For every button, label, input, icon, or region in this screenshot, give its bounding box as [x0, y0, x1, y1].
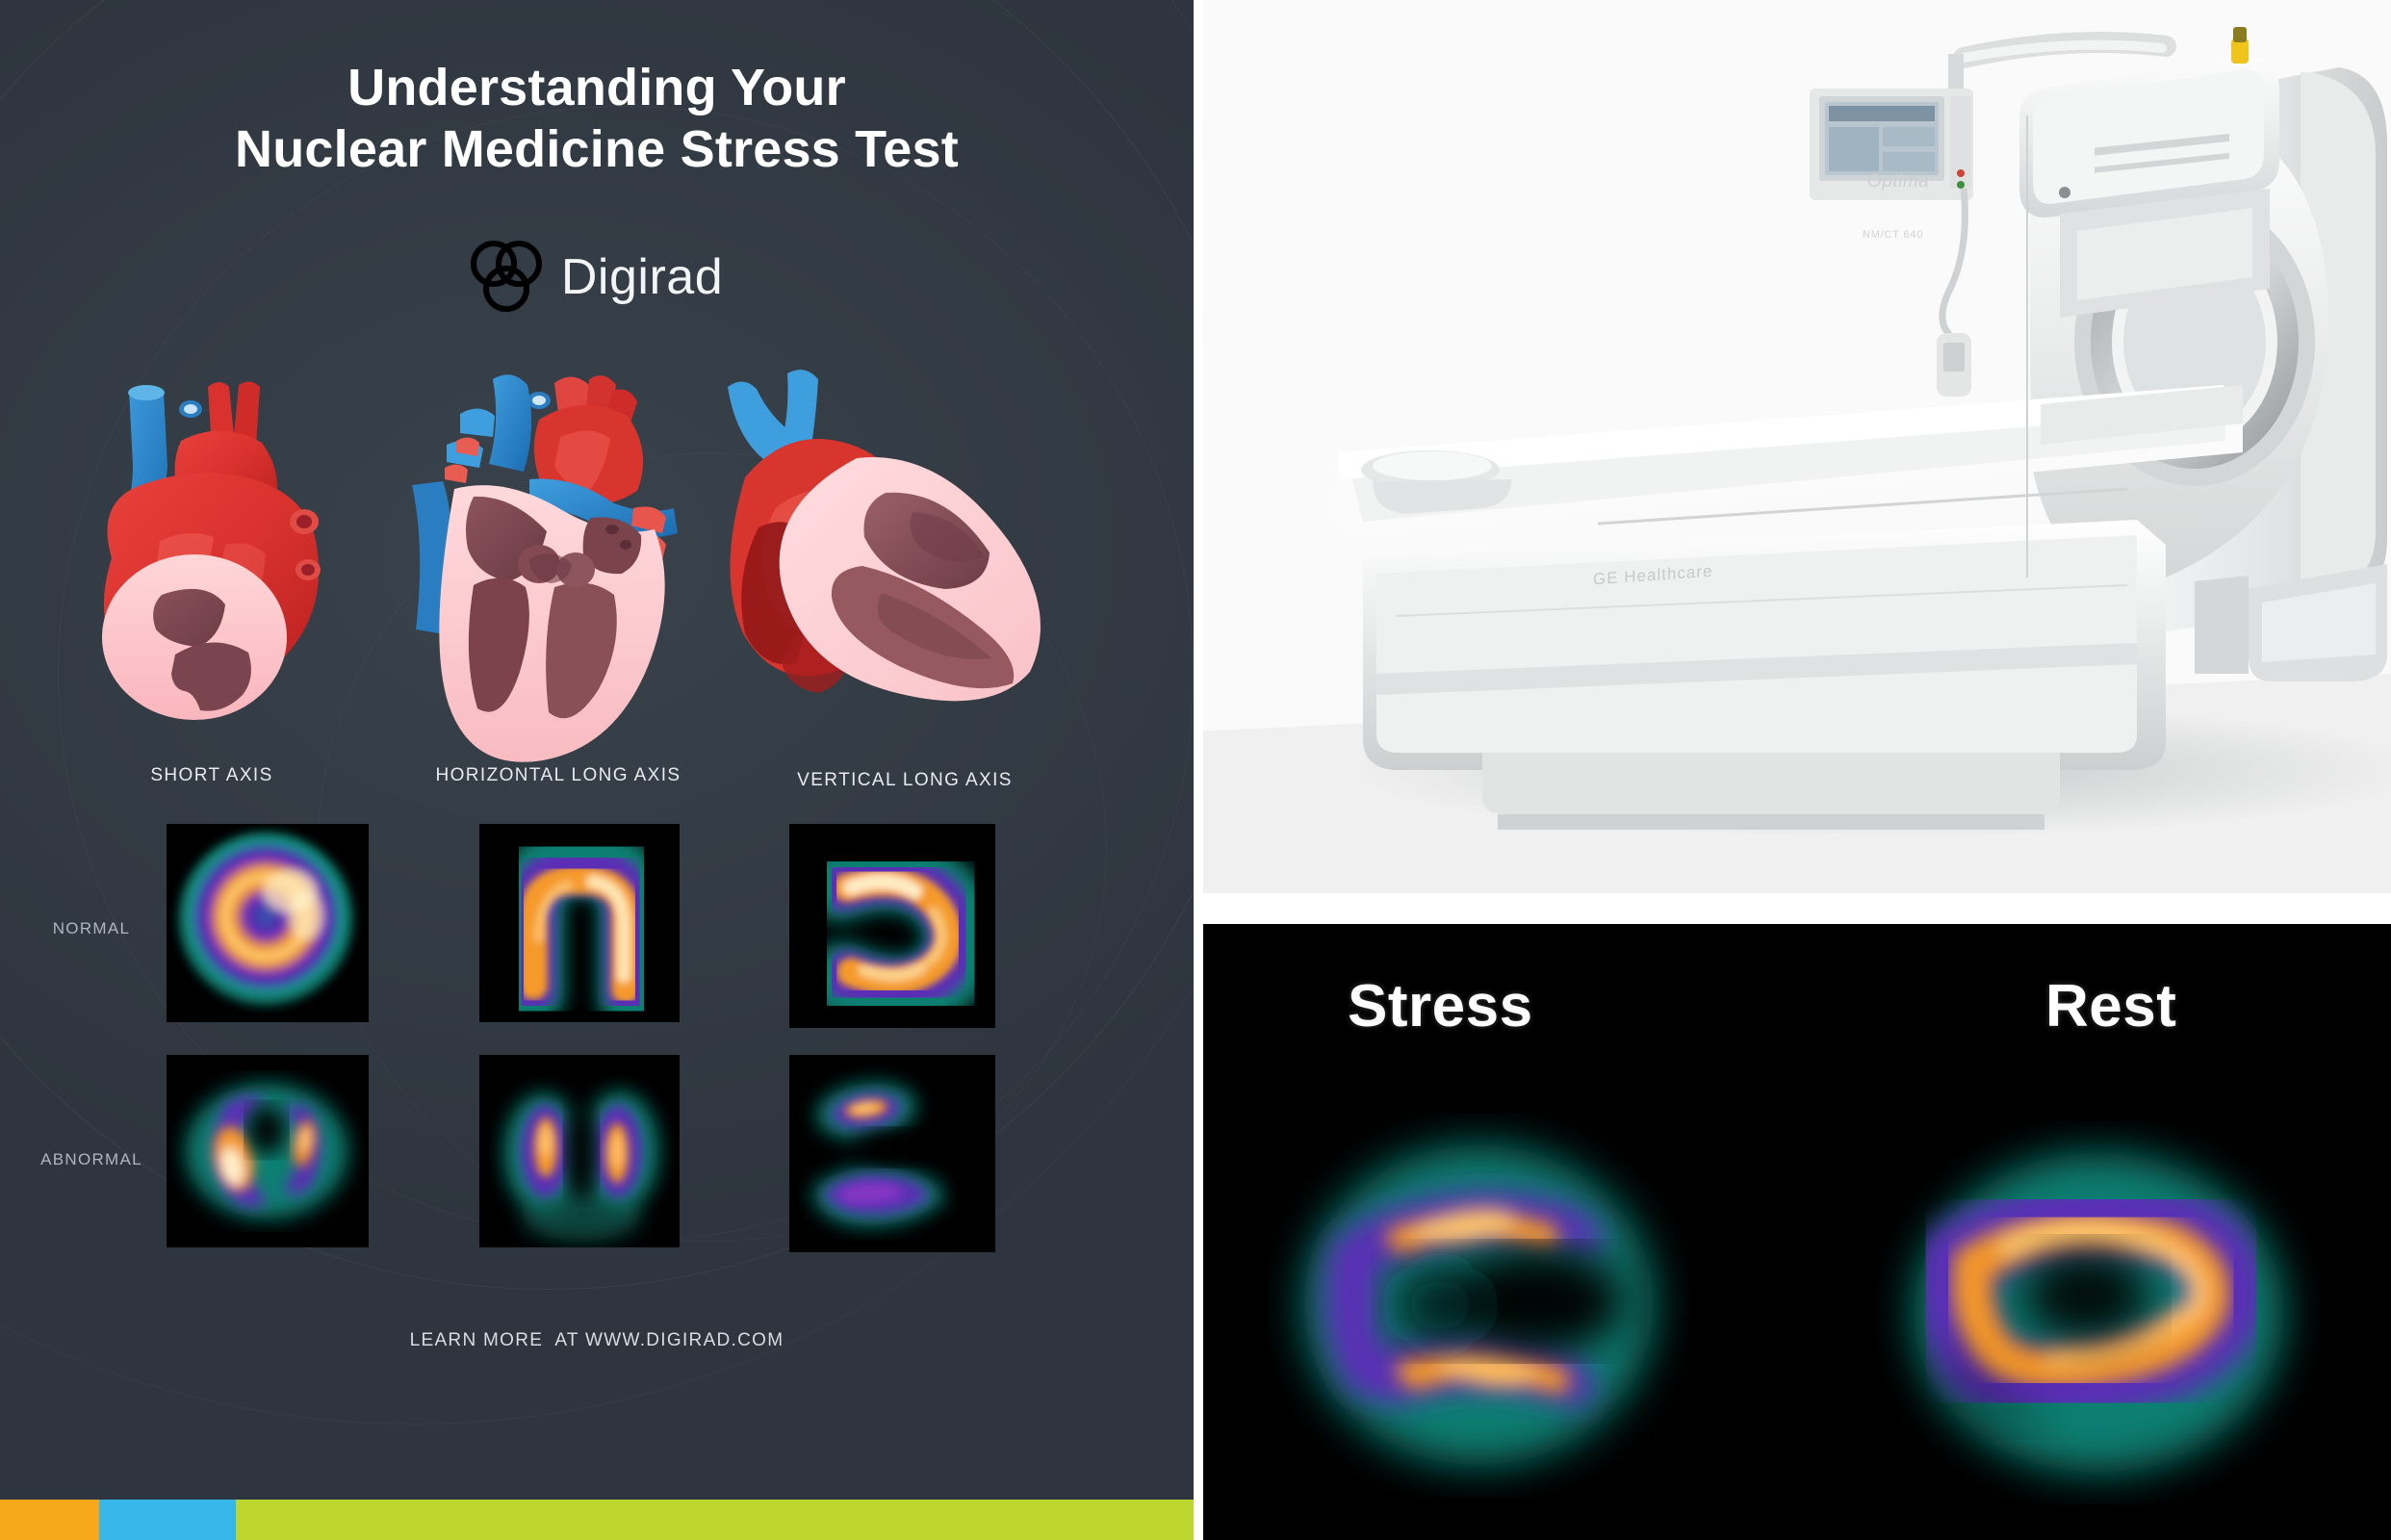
stress-rest-spect-panel: Stress Rest: [1194, 924, 2391, 1540]
heart-illustrations: [0, 366, 1194, 770]
scanner-product-label: Optima: [1867, 171, 1929, 192]
vertical-long-axis-heart-illustration: [712, 366, 1097, 770]
scanner-model-label: NM/CT 640: [1863, 229, 1923, 241]
axis-label-horizontal-long-axis: HORIZONTAL LONG AXIS: [404, 765, 712, 786]
scan-abnormal-short-axis: [167, 1055, 369, 1247]
digirad-infographic-panel: Understanding Your Nuclear Medicine Stre…: [0, 0, 1194, 1540]
panel-divider-horizontal: [1194, 893, 2391, 924]
title-line-1: Understanding Your: [0, 58, 1194, 119]
panel-divider-vertical: [1194, 0, 1203, 1540]
learn-more-text: LEARN MORE AT WWW.DIGIRAD.COM: [0, 1330, 1194, 1351]
logo-circle-cyan-icon: [483, 266, 529, 312]
short-axis-heart-illustration: [67, 366, 375, 770]
stress-label: Stress: [1348, 972, 1533, 1040]
rest-label: Rest: [2045, 972, 2176, 1040]
digirad-logo-icon: [471, 239, 546, 316]
brand-color-bar: [0, 1500, 1194, 1540]
digirad-logo: Digirad: [0, 239, 1194, 316]
spect-ct-scanner-photo: Optima NM/CT 640 GE Healthcare: [1194, 0, 2391, 893]
rest-scan-image: [1867, 1107, 2329, 1521]
scan-normal-short-axis: [167, 824, 369, 1022]
stress-scan-image: [1251, 1097, 1713, 1511]
brand-name: Digirad: [561, 248, 723, 306]
spect-scan-grid: [0, 818, 1194, 1261]
horizontal-long-axis-heart-illustration: [385, 366, 712, 770]
color-bar-segment-cyan: [99, 1500, 236, 1540]
axis-label-short-axis: SHORT AXIS: [106, 765, 318, 786]
infographic-title: Understanding Your Nuclear Medicine Stre…: [0, 58, 1194, 180]
scan-normal-horizontal-long-axis: [479, 824, 680, 1022]
scan-abnormal-horizontal-long-axis: [479, 1055, 680, 1247]
color-bar-segment-green: [236, 1500, 1194, 1540]
color-bar-segment-orange: [0, 1500, 99, 1540]
scan-normal-vertical-long-axis: [789, 824, 995, 1028]
title-line-2: Nuclear Medicine Stress Test: [0, 119, 1194, 181]
axis-label-vertical-long-axis: VERTICAL LONG AXIS: [722, 770, 1088, 791]
image-collage: Understanding Your Nuclear Medicine Stre…: [0, 0, 2391, 1540]
scan-abnormal-vertical-long-axis: [789, 1055, 995, 1252]
